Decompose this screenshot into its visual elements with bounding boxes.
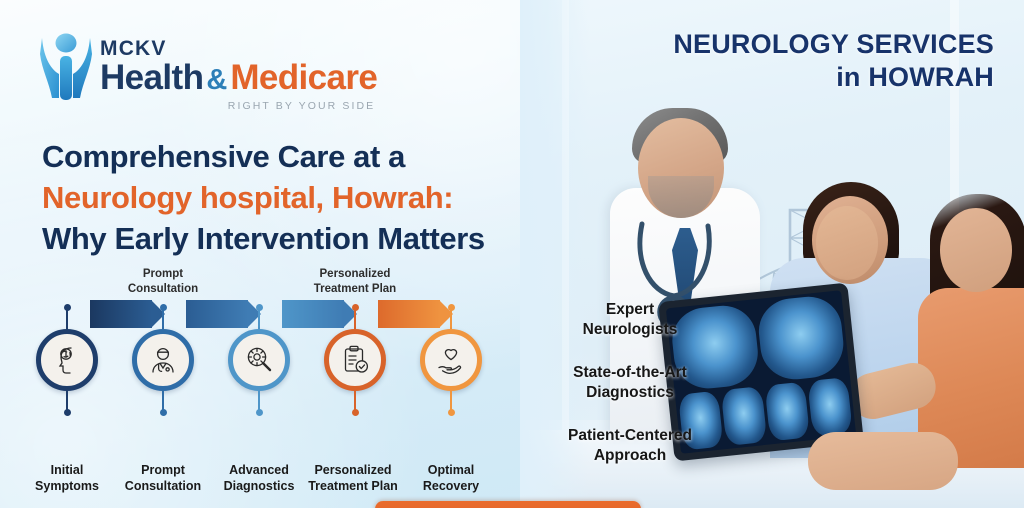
brand-word-health: Health [100,60,203,95]
mri-scan-thumb-3 [764,382,810,442]
clipboard-check-icon [338,343,372,377]
head-brain-icon [50,343,84,377]
brand-word-medicare: Medicare [230,60,377,95]
doctor-icon [146,343,180,377]
brand-logo[interactable]: MCKV Health & Medicare RIGHT BY YOUR SID… [38,30,377,112]
flow-step-1[interactable]: Initial Symptoms [36,329,98,391]
magnifier-cells-icon [242,343,276,377]
cta-button[interactable] [375,501,641,508]
banner-line-1: NEUROLOGY SERVICES [540,28,994,61]
feature-item-2: State-of-the-Art Diagnostics [540,363,720,402]
feature-highlights: Expert Neurologists State-of-the-Art Dia… [540,300,720,489]
hand-heart-icon [434,343,468,377]
headline-line-2: Neurology hospital, Howrah: [42,177,532,218]
mri-scan-axial-right [755,293,847,382]
headline-line-1: Comprehensive Care at a [42,136,532,177]
flow-step-5[interactable]: Optimal Recovery [420,329,482,391]
flow-step-2-top-label: Prompt Consultation [103,267,223,296]
page-title: Comprehensive Care at a Neurology hospit… [42,136,532,260]
flow-step-5-label: Optimal Recovery [391,463,511,495]
brand-tagline: RIGHT BY YOUR SIDE [100,100,377,112]
poster-canvas: MCKV Health & Medicare RIGHT BY YOUR SID… [0,0,1024,508]
flow-step-2[interactable]: Prompt Consultation Prompt Consultation [132,329,194,391]
feature-item-3: Patient-Centered Approach [540,426,720,465]
flow-step-4-top-label: Personalized Treatment Plan [295,267,415,296]
flow-arrow-3 [282,300,344,328]
brand-name-prefix: MCKV [100,38,377,59]
mri-scan-thumb-4 [807,377,853,437]
patient-journey-flow: Initial Symptoms [18,283,528,448]
service-banner-title: NEUROLOGY SERVICES in HOWRAH [540,28,1010,95]
flow-arrow-1 [90,300,152,328]
brand-ampersand: & [206,66,227,95]
headline-line-3: Why Early Intervention Matters [42,218,532,259]
banner-line-2: in HOWRAH [540,61,994,94]
flow-arrow-4 [378,300,440,328]
flow-step-4[interactable]: Personalized Treatment Plan Personalized… [324,329,386,391]
patient-hands [808,432,958,490]
patient-1-face [816,206,878,280]
flow-arrow-2 [186,300,248,328]
feature-item-1: Expert Neurologists [540,300,720,339]
flow-step-3[interactable]: Advanced Diagnostics [228,329,290,391]
person-raised-arms-icon [38,30,94,102]
mri-scan-thumb-2 [721,386,767,446]
patient-2-head [940,208,1012,292]
